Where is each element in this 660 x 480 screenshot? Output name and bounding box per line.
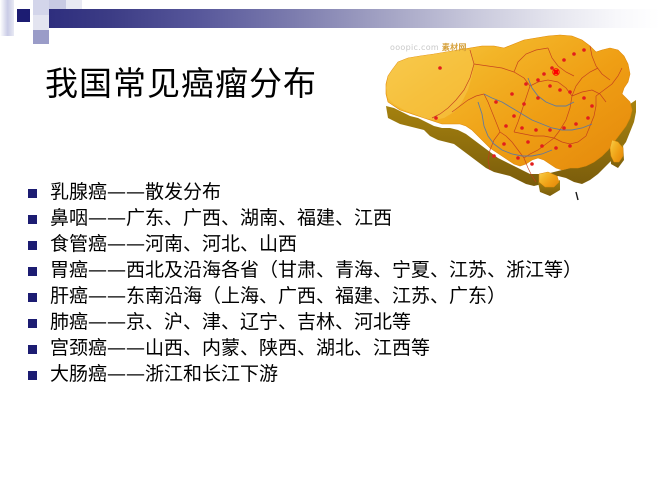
bullet-square-icon [28,241,37,250]
list-item[interactable]: 肝癌——东南沿海（上海、广西、福建、江苏、广东） [28,284,638,309]
list-item-text: 肝癌——东南沿海（上海、广西、福建、江苏、广东） [50,284,638,309]
bullet-square-icon [28,267,37,276]
decoration-strip-left [0,0,14,36]
map-landmass [386,35,632,184]
decoration-square-top-second [49,0,66,9]
map-watermark-cn: 素材网 [442,43,467,52]
header-gradient-bar [49,9,660,28]
decoration-square-right [66,0,82,9]
list-item-text: 乳腺癌——散发分布 [50,180,638,205]
decoration-navy-square [17,9,30,22]
list-item[interactable]: 乳腺癌——散发分布 [28,180,638,205]
bullet-list: 乳腺癌——散发分布 鼻咽——广东、广西、湖南、福建、江西 食管癌——河南、河北、… [28,180,638,388]
list-item-text: 食管癌——河南、河北、山西 [50,232,638,257]
bullet-square-icon [28,189,37,198]
list-item-text: 鼻咽——广东、广西、湖南、福建、江西 [50,206,638,231]
page-title: 我国常见癌瘤分布 [45,64,317,104]
bullet-square-icon [28,319,37,328]
list-item[interactable]: 肺癌——京、沪、津、辽宁、吉林、河北等 [28,310,638,335]
map-watermark: ooopic.com 素材网 [390,42,467,53]
bullet-square-icon [28,345,37,354]
bullet-square-icon [28,293,37,302]
list-item-text: 宫颈癌——山西、内蒙、陕西、湖北、江西等 [50,336,638,361]
list-item-text: 大肠癌——浙江和长江下游 [50,362,638,387]
decoration-square-upper [33,0,49,15]
list-item[interactable]: 宫颈癌——山西、内蒙、陕西、湖北、江西等 [28,336,638,361]
list-item[interactable]: 胃癌——西北及沿海各省（甘肃、青海、宁夏、江苏、浙江等） [28,258,638,283]
list-item[interactable]: 鼻咽——广东、广西、湖南、福建、江西 [28,206,638,231]
bullet-square-icon [28,215,37,224]
list-item-text: 胃癌——西北及沿海各省（甘肃、青海、宁夏、江苏、浙江等） [50,258,638,283]
list-item[interactable]: 大肠癌——浙江和长江下游 [28,362,638,387]
decoration-square-lower [33,30,49,44]
list-item[interactable]: 食管癌——河南、河北、山西 [28,232,638,257]
list-item-text: 肺癌——京、沪、津、辽宁、吉林、河北等 [50,310,638,335]
slide-canvas: 我国常见癌瘤分布 [0,0,660,480]
bullet-square-icon [28,371,37,380]
map-watermark-domain: ooopic.com [390,43,439,52]
decoration-square-mid [33,15,49,30]
